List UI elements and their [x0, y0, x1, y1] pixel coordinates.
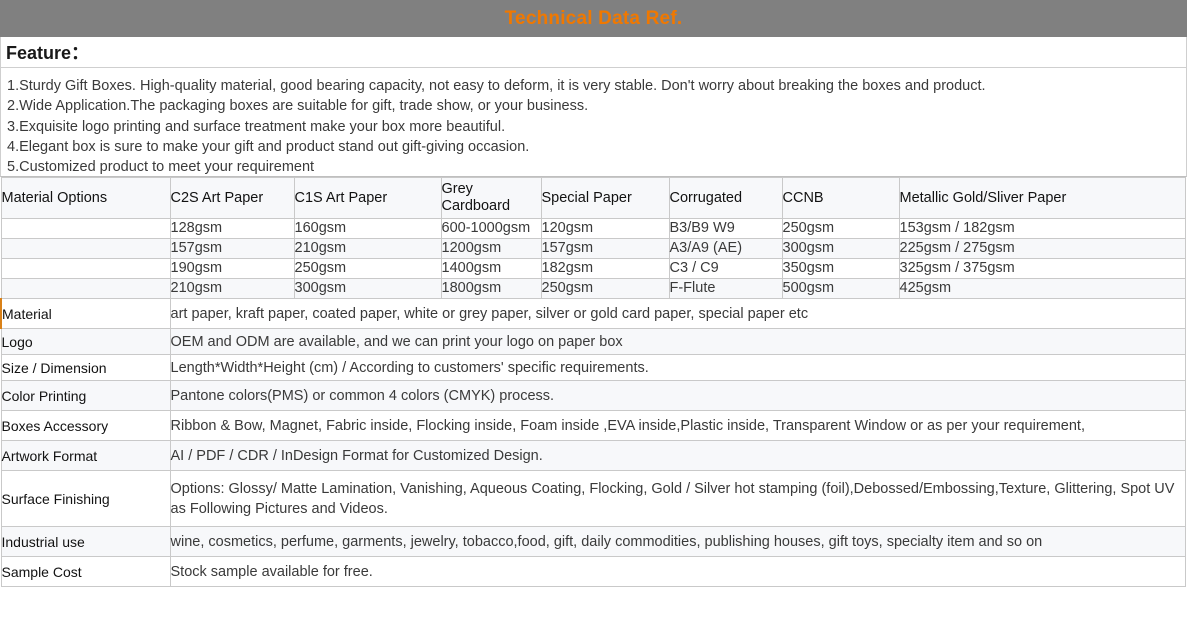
feature-heading: Feature： — [6, 39, 89, 65]
cell: 153gsm / 182gsm — [899, 219, 1185, 239]
cell: 210gsm — [170, 279, 294, 299]
cell — [1, 239, 170, 259]
detail-value: AI / PDF / CDR / InDesign Format for Cus… — [170, 441, 1185, 471]
detail-label: Size / Dimension — [1, 355, 170, 381]
detail-row-artwork-format: Artwork Format AI / PDF / CDR / InDesign… — [1, 441, 1185, 471]
table-row: 157gsm 210gsm 1200gsm 157gsm A3/A9 (AE) … — [1, 239, 1185, 259]
page-title: Technical Data Ref. — [505, 9, 683, 28]
detail-row-material: Material art paper, kraft paper, coated … — [1, 299, 1185, 329]
cell: 300gsm — [782, 239, 899, 259]
feature-line: 2.Wide Application.The packaging boxes a… — [7, 96, 1180, 116]
cell: 300gsm — [294, 279, 441, 299]
cell: 190gsm — [170, 259, 294, 279]
feature-line: 4.Elegant box is sure to make your gift … — [7, 137, 1180, 157]
cell: 210gsm — [294, 239, 441, 259]
cell: 325gsm / 375gsm — [899, 259, 1185, 279]
detail-label: Color Printing — [1, 381, 170, 411]
table-row: 210gsm 300gsm 1800gsm 250gsm F-Flute 500… — [1, 279, 1185, 299]
cell: 1200gsm — [441, 239, 541, 259]
cell — [1, 219, 170, 239]
cell: 1400gsm — [441, 259, 541, 279]
cell: 600-1000gsm — [441, 219, 541, 239]
detail-label: Material — [1, 299, 170, 329]
detail-row-logo: Logo OEM and ODM are available, and we c… — [1, 329, 1185, 355]
cell: F-Flute — [669, 279, 782, 299]
cell: 250gsm — [782, 219, 899, 239]
specification-table: Material Options C2S Art Paper C1S Art P… — [0, 177, 1186, 587]
cell: 1800gsm — [441, 279, 541, 299]
detail-row-surface-finishing: Surface Finishing Options: Glossy/ Matte… — [1, 471, 1185, 527]
column-header: Grey Cardboard — [441, 178, 541, 219]
feature-list: 1.Sturdy Gift Boxes. High-quality materi… — [0, 68, 1187, 177]
cell: 250gsm — [294, 259, 441, 279]
technical-data-sheet: Technical Data Ref. Feature： 1.Sturdy Gi… — [0, 0, 1187, 620]
detail-row-color-printing: Color Printing Pantone colors(PMS) or co… — [1, 381, 1185, 411]
detail-row-sample-cost: Sample Cost Stock sample available for f… — [1, 557, 1185, 587]
feature-line: 5.Customized product to meet your requir… — [7, 157, 1180, 177]
cell: 157gsm — [541, 239, 669, 259]
detail-label: Surface Finishing — [1, 471, 170, 527]
detail-value: Options: Glossy/ Matte Lamination, Vanis… — [170, 471, 1185, 527]
table-row: 128gsm 160gsm 600-1000gsm 120gsm B3/B9 W… — [1, 219, 1185, 239]
cell: 500gsm — [782, 279, 899, 299]
detail-row-industrial-use: Industrial use wine, cosmetics, perfume,… — [1, 527, 1185, 557]
feature-line: 1.Sturdy Gift Boxes. High-quality materi… — [7, 76, 1180, 96]
column-header: Material Options — [1, 178, 170, 219]
detail-label: Sample Cost — [1, 557, 170, 587]
detail-value: wine, cosmetics, perfume, garments, jewe… — [170, 527, 1185, 557]
cell: 425gsm — [899, 279, 1185, 299]
detail-value: art paper, kraft paper, coated paper, wh… — [170, 299, 1185, 329]
detail-value: OEM and ODM are available, and we can pr… — [170, 329, 1185, 355]
cell: 250gsm — [541, 279, 669, 299]
title-bar: Technical Data Ref. — [0, 0, 1187, 37]
cell — [1, 259, 170, 279]
detail-value: Pantone colors(PMS) or common 4 colors (… — [170, 381, 1185, 411]
detail-value: Length*Width*Height (cm) / According to … — [170, 355, 1185, 381]
cell: 225gsm / 275gsm — [899, 239, 1185, 259]
table-header-row: Material Options C2S Art Paper C1S Art P… — [1, 178, 1185, 219]
detail-label: Industrial use — [1, 527, 170, 557]
detail-label: Logo — [1, 329, 170, 355]
column-header: C1S Art Paper — [294, 178, 441, 219]
detail-label: Artwork Format — [1, 441, 170, 471]
cell: 350gsm — [782, 259, 899, 279]
detail-row-size-dimension: Size / Dimension Length*Width*Height (cm… — [1, 355, 1185, 381]
cell: 120gsm — [541, 219, 669, 239]
cell: B3/B9 W9 — [669, 219, 782, 239]
cell: 157gsm — [170, 239, 294, 259]
detail-row-boxes-accessory: Boxes Accessory Ribbon & Bow, Magnet, Fa… — [1, 411, 1185, 441]
column-header: Special Paper — [541, 178, 669, 219]
table-row: 190gsm 250gsm 1400gsm 182gsm C3 / C9 350… — [1, 259, 1185, 279]
detail-value: Stock sample available for free. — [170, 557, 1185, 587]
cell: C3 / C9 — [669, 259, 782, 279]
cell: 160gsm — [294, 219, 441, 239]
cell — [1, 279, 170, 299]
cell: 128gsm — [170, 219, 294, 239]
column-header: C2S Art Paper — [170, 178, 294, 219]
cell: 182gsm — [541, 259, 669, 279]
column-header: Corrugated — [669, 178, 782, 219]
feature-heading-row: Feature： — [0, 37, 1187, 68]
cell: A3/A9 (AE) — [669, 239, 782, 259]
feature-line: 3.Exquisite logo printing and surface tr… — [7, 117, 1180, 137]
detail-label: Boxes Accessory — [1, 411, 170, 441]
detail-value: Ribbon & Bow, Magnet, Fabric inside, Flo… — [170, 411, 1185, 441]
column-header: CCNB — [782, 178, 899, 219]
column-header: Metallic Gold/Sliver Paper — [899, 178, 1185, 219]
